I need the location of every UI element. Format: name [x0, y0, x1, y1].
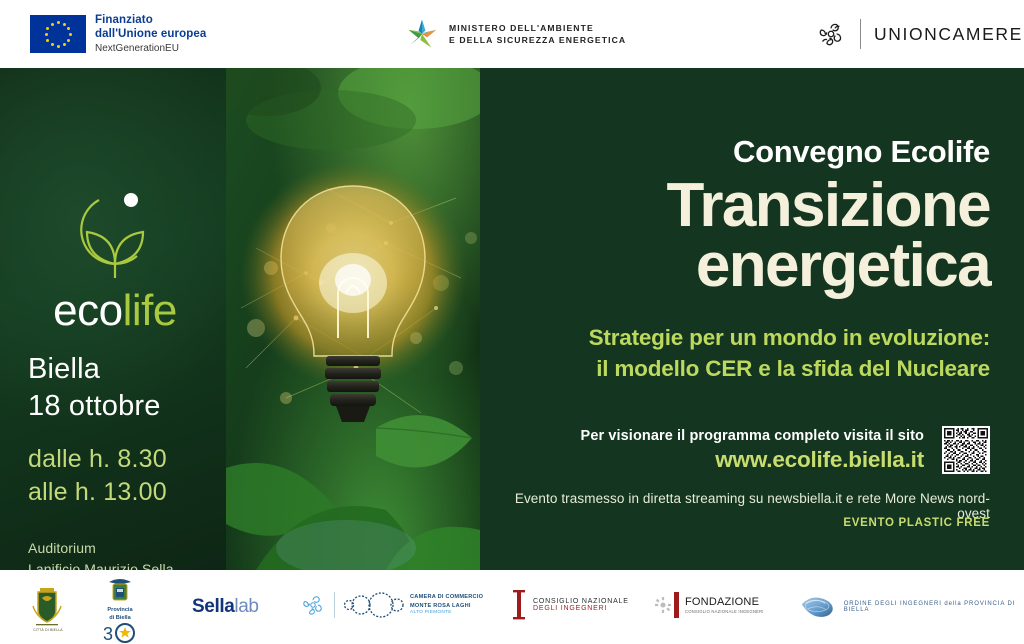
ecolife-logo: ecolife — [20, 186, 210, 336]
poster-canvas: Finanziato dall'Unione europea NextGener… — [0, 0, 1024, 644]
sponsor-provincia-biella: Provincia di Biella 3 — [103, 576, 137, 643]
event-venue: Auditorium Lanificio Maurizio Sella via … — [28, 538, 228, 570]
eu-funding-logo: Finanziato dall'Unione europea NextGener… — [30, 14, 206, 55]
eu-star-icon — [46, 27, 49, 30]
eu-star-icon — [57, 45, 60, 48]
ministero-logo: MINISTERO DELL'AMBIENTE E DELLA SICUREZZ… — [405, 17, 626, 51]
right-content: Convegno Ecolife Transizione energetica … — [490, 68, 1024, 570]
qr-code-image — [944, 428, 988, 472]
ministero-text: MINISTERO DELL'AMBIENTE E DELLA SICUREZZ… — [449, 22, 626, 47]
ministero-star-icon — [405, 17, 439, 51]
website-text: Per visionare il programma completo visi… — [581, 428, 924, 473]
sellalab-light: lab — [234, 596, 258, 617]
cni-pillar-icon — [512, 590, 526, 620]
website-intro: Per visionare il programma completo visi… — [581, 428, 924, 444]
website-row: Per visionare il programma completo visi… — [581, 426, 990, 474]
eu-line-2: dall'Unione europea — [95, 28, 206, 42]
fondazione-bar-icon — [674, 592, 679, 618]
sponsor-ordine-ingegneri-biella: ORDINE DEGLI INGEGNERI della PROVINCIA D… — [800, 592, 1024, 622]
provincia-biella-crest-icon — [105, 576, 135, 606]
eu-star-icon — [63, 43, 66, 46]
fondazione-line-1: FONDAZIONE — [685, 596, 764, 608]
camera-line-3: ALTO PIEMONTE — [410, 610, 483, 617]
unioncamere-label: UNIONCAMERE — [874, 24, 1023, 45]
eu-star-icon — [51, 23, 54, 26]
lightbulb-photo-artwork — [226, 68, 480, 570]
top-logo-bar: Finanziato dall'Unione europea NextGener… — [0, 0, 1024, 68]
eu-star-icon — [46, 39, 49, 42]
camera-commercio-label: CAMERA DI COMMERCIO MONTE ROSA LAGHI ALT… — [410, 593, 483, 616]
eu-flag-icon — [30, 15, 86, 53]
event-city: Biella — [28, 351, 223, 388]
ecolife-word-eco: eco — [53, 286, 122, 335]
ministero-line-1: MINISTERO DELL'AMBIENTE — [449, 22, 626, 34]
eu-funding-text: Finanziato dall'Unione europea NextGener… — [95, 14, 206, 55]
camera-divider — [334, 592, 335, 618]
sponsor-sellalab: Sellalab — [192, 596, 259, 618]
subtitle-line-2: il modello CER e la sfida del Nucleare — [589, 353, 990, 384]
cni-secondary-icon — [655, 597, 671, 613]
provincia-30-badge-icon: 3 — [103, 623, 137, 643]
title-line-1: Transizione — [667, 171, 991, 240]
eu-star-icon — [69, 33, 72, 36]
event-kicker: Convegno Ecolife — [733, 134, 990, 170]
citta-biella-crest-icon — [30, 584, 64, 630]
main-band: ecolife Biella 18 ottobre dalle h. 8.30 … — [0, 68, 1024, 570]
venue-line-2: Lanificio Maurizio Sella — [28, 559, 228, 570]
lightbulb-photo — [226, 68, 480, 570]
camera-line-2: MONTE ROSA LAGHI — [410, 602, 483, 610]
event-date: 18 ottobre — [28, 388, 223, 425]
sponsor-consiglio-nazionale-ingegneri: CONSIGLIO NAZIONALE DEGLI INGEGNERI — [512, 590, 671, 620]
subtitle-line-1: Strategie per un mondo in evoluzione: — [589, 322, 990, 353]
sponsor-citta-biella: CITTÀ DI BIELLA — [30, 584, 64, 630]
svg-text:3: 3 — [103, 624, 113, 643]
ordine-ingegneri-label: ORDINE DEGLI INGEGNERI della PROVINCIA D… — [844, 601, 1024, 613]
sellalab-bold: Sella — [192, 596, 234, 617]
cni-line-1: CONSIGLIO NAZIONALE — [533, 598, 629, 605]
event-hours: dalle h. 8.30 alle h. 13.00 — [28, 443, 223, 509]
sellalab-wordmark: Sellalab — [192, 596, 259, 618]
event-time-to: alle h. 13.00 — [28, 476, 223, 509]
ecolife-wordmark: ecolife — [20, 286, 210, 336]
eu-star-icon — [51, 43, 54, 46]
ministero-line-2: E DELLA SICUREZZA ENERGETICA — [449, 34, 626, 46]
venue-line-1: Auditorium — [28, 538, 228, 559]
page-title: Transizione energetica — [667, 176, 991, 295]
event-subtitle: Strategie per un mondo in evoluzione: il… — [589, 322, 990, 384]
provincia-line-1: Provincia — [107, 607, 132, 615]
unioncamere-small-icon — [300, 592, 326, 618]
eu-line-1: Finanziato — [95, 14, 206, 28]
plastic-free-badge: EVENTO PLASTIC FREE — [843, 517, 990, 529]
eu-line-3: NextGenerationEU — [95, 43, 206, 55]
fondazione-line-2: CONSIGLIO NAZIONALE INGEGNERI — [685, 609, 764, 614]
sponsor-bar: CITTÀ DI BIELLA Provincia di Biella 3 Se… — [0, 570, 1024, 644]
fondazione-label: FONDAZIONE CONSIGLIO NAZIONALE INGEGNERI — [685, 596, 764, 614]
event-when-where: Biella 18 ottobre dalle h. 8.30 alle h. … — [28, 351, 223, 509]
sponsor-fondazione-cni: FONDAZIONE CONSIGLIO NAZIONALE INGEGNERI — [674, 592, 764, 618]
ordine-ingegneri-globe-icon — [800, 592, 840, 622]
camera-line-1: CAMERA DI COMMERCIO — [410, 593, 483, 601]
qr-code[interactable] — [942, 426, 990, 474]
event-time-from: dalle h. 8.30 — [28, 443, 223, 476]
citta-biella-caption: CITTÀ DI BIELLA — [26, 628, 70, 632]
cni-label: CONSIGLIO NAZIONALE DEGLI INGEGNERI — [533, 598, 629, 612]
sponsor-camera-commercio: CAMERA DI COMMERCIO MONTE ROSA LAGHI ALT… — [300, 590, 483, 620]
cni-line-2: DEGLI INGEGNERI — [533, 605, 629, 612]
eu-star-icon — [57, 21, 60, 24]
eu-star-icon — [67, 27, 70, 30]
unioncamere-logo: UNIONCAMERE — [815, 18, 1023, 50]
eu-star-icon — [67, 39, 70, 42]
unioncamere-divider — [860, 19, 861, 49]
unioncamere-mark-icon — [815, 18, 847, 50]
ecolife-word-life: life — [123, 286, 177, 335]
camera-commercio-mark-icon — [343, 590, 405, 620]
eu-star-icon — [45, 33, 48, 36]
eu-star-icon — [63, 23, 66, 26]
provincia-line-2: di Biella — [109, 615, 130, 623]
title-line-2: energetica — [667, 236, 991, 296]
website-url[interactable]: www.ecolife.biella.it — [581, 447, 924, 473]
ecolife-leaf-icon — [55, 186, 175, 282]
